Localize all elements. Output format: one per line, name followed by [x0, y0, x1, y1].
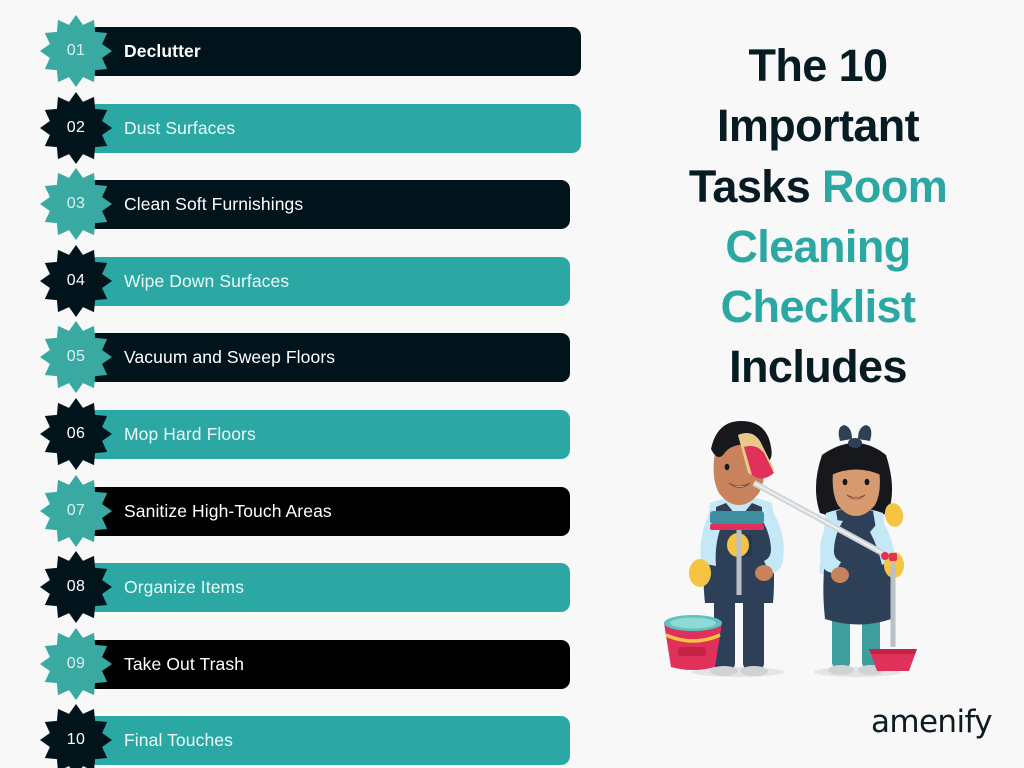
step-number-badge-icon: 10: [40, 704, 112, 768]
step-number: 08: [67, 579, 86, 595]
checklist-item-label: Vacuum and Sweep Floors: [124, 347, 335, 368]
step-number: 06: [67, 426, 86, 442]
step-number: 04: [67, 273, 86, 289]
page-title: The 10 Important Tasks Room Cleaning Che…: [612, 36, 1024, 398]
checklist-bar: Sanitize High-Touch Areas: [88, 487, 570, 536]
checklist-row[interactable]: Declutter01: [0, 21, 612, 98]
checklist-item-label: Organize Items: [124, 577, 244, 598]
checklist-bar: Mop Hard Floors: [88, 410, 570, 459]
title-line-5-highlight: Checklist: [721, 281, 916, 332]
step-number-badge-icon: 08: [40, 551, 112, 623]
title-line-3-plain: Tasks: [689, 161, 822, 212]
checklist-row[interactable]: Mop Hard Floors06: [0, 404, 612, 481]
checklist-bar: Dust Surfaces: [88, 104, 581, 153]
checklist-bar: Take Out Trash: [88, 640, 570, 689]
cleaning-staff-illustration: [626, 395, 1010, 685]
step-number: 09: [67, 656, 86, 672]
checklist-bar: Wipe Down Surfaces: [88, 257, 570, 306]
checklist-row[interactable]: Dust Surfaces02: [0, 98, 612, 175]
checklist-row[interactable]: Final Touches10: [0, 710, 612, 768]
checklist-row[interactable]: Wipe Down Surfaces04: [0, 251, 612, 328]
checklist-bar: Vacuum and Sweep Floors: [88, 333, 570, 382]
checklist-row[interactable]: Organize Items08: [0, 557, 612, 634]
checklist-bar: Organize Items: [88, 563, 570, 612]
checklist-bar: Declutter: [88, 27, 581, 76]
checklist-row[interactable]: Clean Soft Furnishings03: [0, 174, 612, 251]
checklist-row[interactable]: Vacuum and Sweep Floors05: [0, 327, 612, 404]
checklist-item-label: Take Out Trash: [124, 654, 244, 675]
checklist-item-label: Wipe Down Surfaces: [124, 271, 289, 292]
step-number: 03: [67, 196, 86, 212]
right-panel: The 10 Important Tasks Room Cleaning Che…: [612, 0, 1024, 768]
title-line-2: Important: [717, 100, 919, 151]
step-number-badge-icon: 09: [40, 628, 112, 700]
checklist-item-label: Sanitize High-Touch Areas: [124, 501, 332, 522]
checklist-item-label: Clean Soft Furnishings: [124, 194, 303, 215]
step-number-badge-icon: 06: [40, 398, 112, 470]
checklist-item-label: Declutter: [124, 41, 201, 62]
checklist-row[interactable]: Take Out Trash09: [0, 634, 612, 711]
step-number-badge-icon: 04: [40, 245, 112, 317]
step-number-badge-icon: 03: [40, 168, 112, 240]
step-number: 07: [67, 503, 86, 519]
title-line-4-highlight: Cleaning: [725, 221, 910, 272]
checklist-item-label: Final Touches: [124, 730, 233, 751]
checklist-row[interactable]: Sanitize High-Touch Areas07: [0, 481, 612, 558]
step-number-badge-icon: 05: [40, 321, 112, 393]
step-number: 02: [67, 120, 86, 136]
amenify-logo: amenify: [871, 704, 992, 740]
checklist-item-label: Mop Hard Floors: [124, 424, 256, 445]
title-line-1: The 10: [749, 40, 888, 91]
step-number: 01: [67, 43, 86, 59]
step-number-badge-icon: 01: [40, 15, 112, 87]
infographic-poster: Declutter01Dust Surfaces02Clean Soft Fur…: [0, 0, 1024, 768]
checklist: Declutter01Dust Surfaces02Clean Soft Fur…: [0, 0, 612, 768]
step-number: 05: [67, 349, 86, 365]
checklist-item-label: Dust Surfaces: [124, 118, 235, 139]
title-line-6: Includes: [729, 341, 907, 392]
step-number-badge-icon: 02: [40, 92, 112, 164]
checklist-bar: Final Touches: [88, 716, 570, 765]
step-number-badge-icon: 07: [40, 475, 112, 547]
checklist-bar: Clean Soft Furnishings: [88, 180, 570, 229]
title-line-3-highlight: Room: [822, 161, 947, 212]
step-number: 10: [67, 732, 86, 748]
